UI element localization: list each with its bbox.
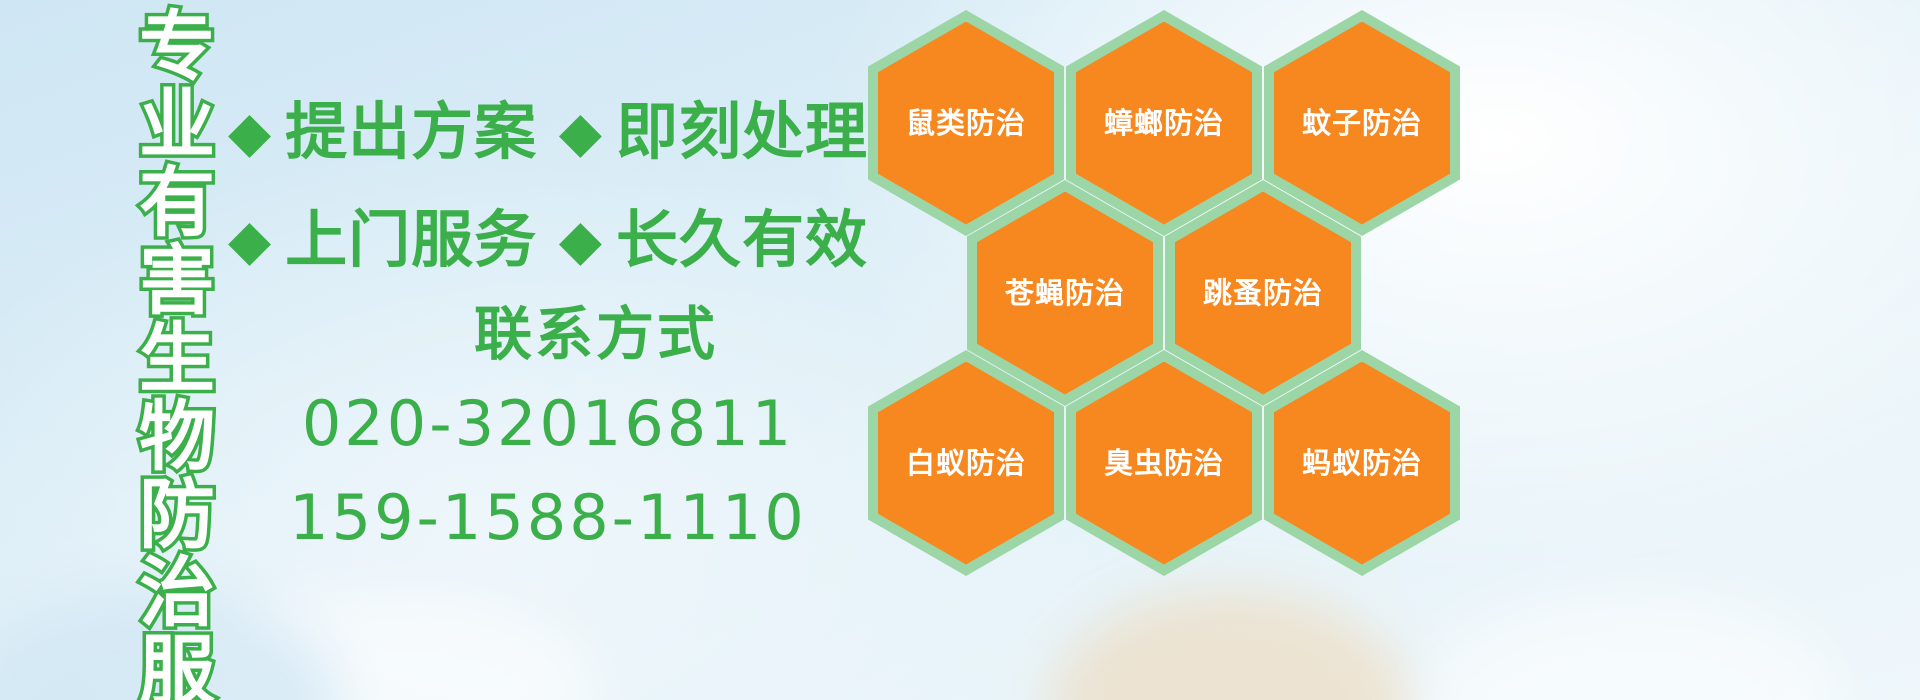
contact-block: 联系方式 020-32016811 159-1588-1110 <box>228 300 868 559</box>
feature-label: 提出方案 <box>285 101 537 163</box>
service-label: 跳蚤防治 <box>1203 279 1323 308</box>
vertical-slogan: 专业有害生物防治服务 <box>104 6 208 696</box>
pest-control-banner: 专业有害生物防治服务 ◆ 提出方案 ◆ 即刻处理 ◆ 上门服务 ◆ 长久有效 <box>0 0 1920 700</box>
feature-list: ◆ 提出方案 ◆ 即刻处理 ◆ 上门服务 ◆ 长久有效 <box>228 78 868 294</box>
service-label: 蚊子防治 <box>1302 109 1422 138</box>
service-hex-inner: 鼠类防治 <box>878 22 1054 225</box>
phone-number-mobile[interactable]: 159-1588-1110 <box>228 478 868 559</box>
service-label: 臭虫防治 <box>1104 449 1224 478</box>
background-blur-blob <box>180 590 600 700</box>
diamond-bullet-icon: ◆ <box>559 104 602 160</box>
service-label: 白蚁防治 <box>906 449 1026 478</box>
feature-label: 即刻处理 <box>616 101 868 163</box>
background-blur-blob <box>1420 590 1840 700</box>
contact-title: 联系方式 <box>324 300 868 370</box>
service-hex-inner: 苍蝇防治 <box>977 192 1153 395</box>
diamond-bullet-icon: ◆ <box>228 104 271 160</box>
service-hex-inner: 蚊子防治 <box>1274 22 1450 225</box>
feature-label: 长久有效 <box>616 209 868 271</box>
phone-number-landline[interactable]: 020-32016811 <box>228 384 868 465</box>
feature-row: ◆ 上门服务 ◆ 长久有效 <box>228 186 868 294</box>
feature-row: ◆ 提出方案 ◆ 即刻处理 <box>228 78 868 186</box>
feature-item-long-lasting: ◆ 长久有效 <box>559 209 868 271</box>
service-hex-inner: 蚂蚁防治 <box>1274 362 1450 565</box>
service-honeycomb: 鼠类防治 蟑螂防治 蚊子防治 苍蝇防治 跳蚤防治 白蚁防 <box>862 0 1462 700</box>
service-label: 苍蝇防治 <box>1005 279 1125 308</box>
service-hex-inner: 臭虫防治 <box>1076 362 1252 565</box>
service-hex-inner: 跳蚤防治 <box>1175 192 1351 395</box>
service-label: 蚂蚁防治 <box>1302 449 1422 478</box>
diamond-bullet-icon: ◆ <box>228 212 271 268</box>
feature-item-onsite-service: ◆ 上门服务 <box>228 209 537 271</box>
service-hex-inner: 白蚁防治 <box>878 362 1054 565</box>
feature-item-immediate-handling: ◆ 即刻处理 <box>559 101 868 163</box>
feature-label: 上门服务 <box>285 209 537 271</box>
service-label: 鼠类防治 <box>906 109 1026 138</box>
service-hex-inner: 蟑螂防治 <box>1076 22 1252 225</box>
feature-item-propose-plan: ◆ 提出方案 <box>228 101 537 163</box>
diamond-bullet-icon: ◆ <box>559 212 602 268</box>
service-label: 蟑螂防治 <box>1104 109 1224 138</box>
